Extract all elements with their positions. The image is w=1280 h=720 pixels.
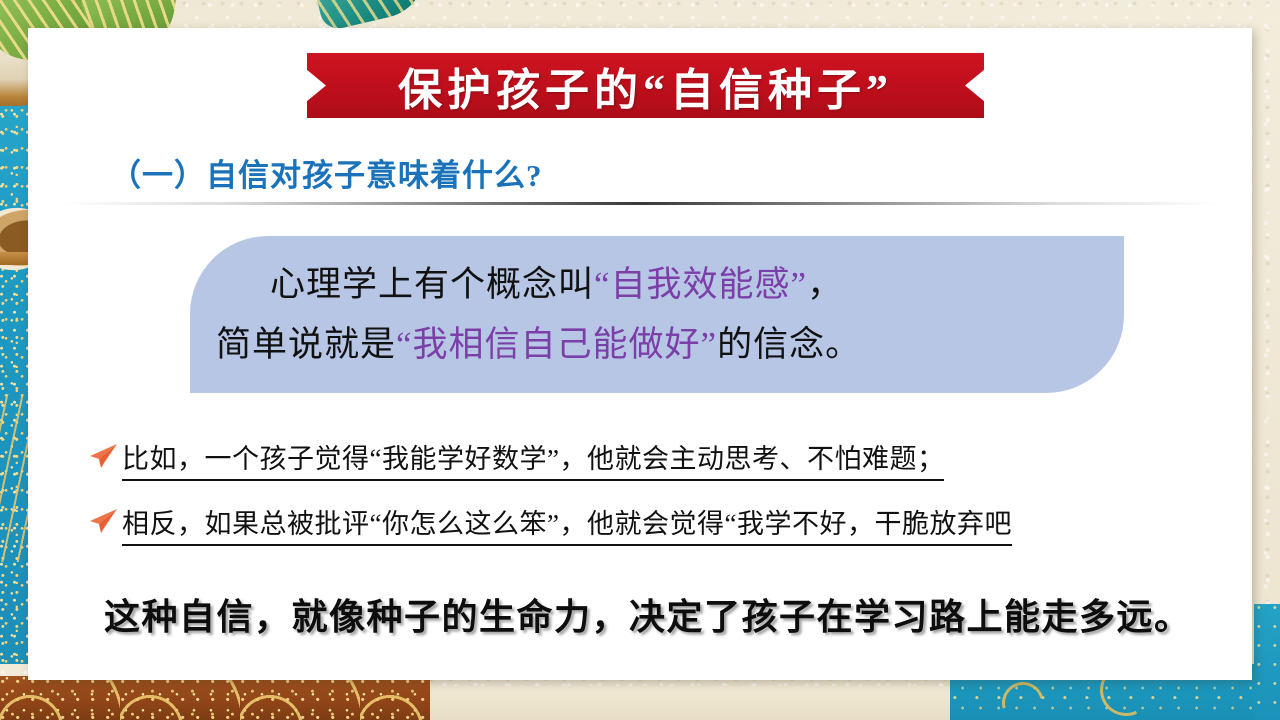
paper-plane-icon — [88, 443, 118, 469]
section-divider — [62, 202, 1219, 205]
concept-callout-box: 心理学上有个概念叫“自我效能感”， 简单说就是“我相信自己能做好”的信念。 — [190, 236, 1124, 393]
concept-line-2: 简单说就是“我相信自己能做好”的信念。 — [216, 315, 1098, 375]
gold-swirl-icon — [994, 674, 1051, 720]
section-subtitle: （一）自信对孩子意味着什么? — [110, 150, 543, 195]
gold-scallop-pattern — [0, 676, 430, 720]
concept-line-2-highlight: “我相信自己能做好” — [396, 325, 717, 364]
bullet-row: 相反，如果总被批评“你怎么这么笨”，他就会觉得“我学不好，干脆放弃吧 — [88, 502, 1268, 546]
concept-line-2-suffix: 的信念。 — [717, 325, 861, 364]
bullet-row: 比如，一个孩子觉得“我能学好数学”，他就会主动思考、不怕难题； — [88, 437, 1268, 481]
conclusion-text: 这种自信，就像种子的生命力，决定了孩子在学习路上能走多远。 — [104, 588, 1192, 640]
page-title: 保护孩子的“自信种子” — [398, 54, 893, 118]
bottom-rust-ornament — [0, 676, 430, 720]
title-banner: 保护孩子的“自信种子” — [307, 53, 984, 118]
concept-line-1-highlight: “自我效能感” — [594, 265, 807, 304]
concept-line-1-prefix: 心理学上有个概念叫 — [270, 265, 594, 304]
paper-plane-icon — [88, 508, 118, 534]
slide-canvas: 保护孩子的“自信种子” （一）自信对孩子意味着什么? 心理学上有个概念叫“自我效… — [0, 0, 1280, 720]
concept-line-1: 心理学上有个概念叫“自我效能感”， — [216, 255, 1098, 315]
bottom-cream-ornament — [430, 686, 950, 720]
right-teal-ornament — [1254, 604, 1280, 720]
concept-line-1-suffix: ， — [807, 265, 843, 304]
bullet-text: 相反，如果总被批评“你怎么这么笨”，他就会觉得“我学不好，干脆放弃吧 — [122, 502, 1012, 546]
bullet-text: 比如，一个孩子觉得“我能学好数学”，他就会主动思考、不怕难题； — [122, 437, 944, 481]
concept-line-2-prefix: 简单说就是 — [216, 325, 396, 364]
